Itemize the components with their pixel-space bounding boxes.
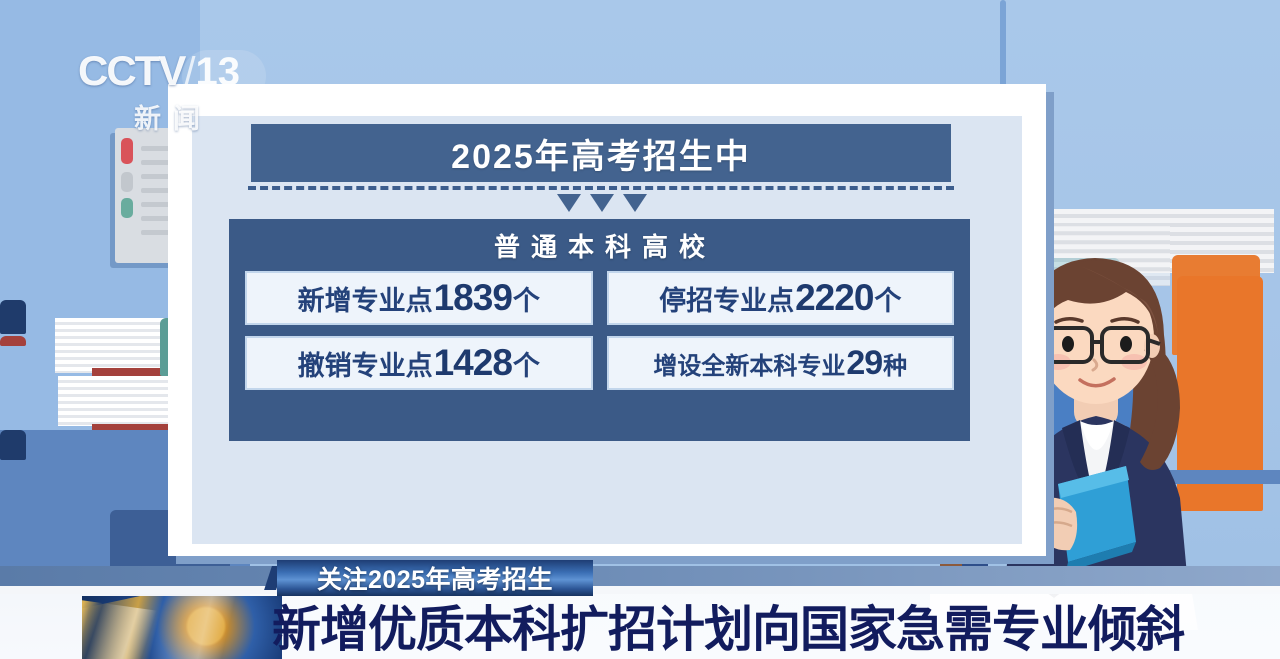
file-tab-gray <box>121 172 133 192</box>
stat-label: 撤销专业点 <box>298 344 433 383</box>
stat-value: 2220 <box>795 277 873 319</box>
arrow-triangles <box>552 194 652 214</box>
triangle-down-icon <box>623 194 647 212</box>
stat-box-revoked-majors: 撤销专业点1428个 <box>245 336 593 390</box>
stat-box-suspended-majors: 停招专业点2220个 <box>607 271 955 325</box>
stats-grid: 新增专业点1839个 停招专业点2220个 撤销专业点1428个 增设全新本科专… <box>245 271 954 390</box>
triangle-down-icon <box>590 194 614 212</box>
file-tab-green <box>121 198 133 218</box>
stats-panel: 普通本科高校 新增专业点1839个 停招专业点2220个 撤销专业点1428个 … <box>229 219 970 441</box>
headline-container: 新增优质本科扩招计划向国家急需专业倾斜 <box>272 594 1280 656</box>
card-title-bar: 2025年高考招生中 <box>251 124 951 182</box>
book-edge <box>0 300 26 334</box>
stat-value: 1428 <box>434 342 512 384</box>
stat-unit: 个 <box>513 344 540 383</box>
card-title: 2025年高考招生中 <box>451 129 751 178</box>
channel-logo: CCTV / 13 新闻 <box>78 48 258 130</box>
stat-label: 新增专业点 <box>298 279 433 318</box>
logo-slash: / <box>184 50 195 95</box>
book-edge <box>0 430 26 460</box>
stat-unit: 种 <box>883 346 907 381</box>
stat-unit: 个 <box>513 279 540 318</box>
stat-label: 停招专业点 <box>659 279 794 318</box>
stat-value: 1839 <box>434 277 512 319</box>
logo-cctv-text: CCTV <box>78 48 184 94</box>
stat-box-new-majors: 新增专业点1839个 <box>245 271 593 325</box>
headline-text: 新增优质本科扩招计划向国家急需专业倾斜 <box>272 590 1184 659</box>
file-tab-red <box>121 138 133 164</box>
triangle-down-icon <box>557 194 581 212</box>
stat-unit: 个 <box>874 279 901 318</box>
stat-value: 29 <box>846 344 882 383</box>
stat-box-brand-new-majors: 增设全新本科专业29种 <box>607 336 955 390</box>
section-heading: 普通本科高校 <box>229 227 970 264</box>
book-edge <box>0 336 26 346</box>
globe-graphic <box>82 596 282 659</box>
logo-channel-number: 13 <box>195 50 240 95</box>
dashed-divider <box>248 186 954 190</box>
stat-label: 增设全新本科专业 <box>653 346 845 381</box>
logo-subtitle: 新闻 <box>78 97 258 136</box>
